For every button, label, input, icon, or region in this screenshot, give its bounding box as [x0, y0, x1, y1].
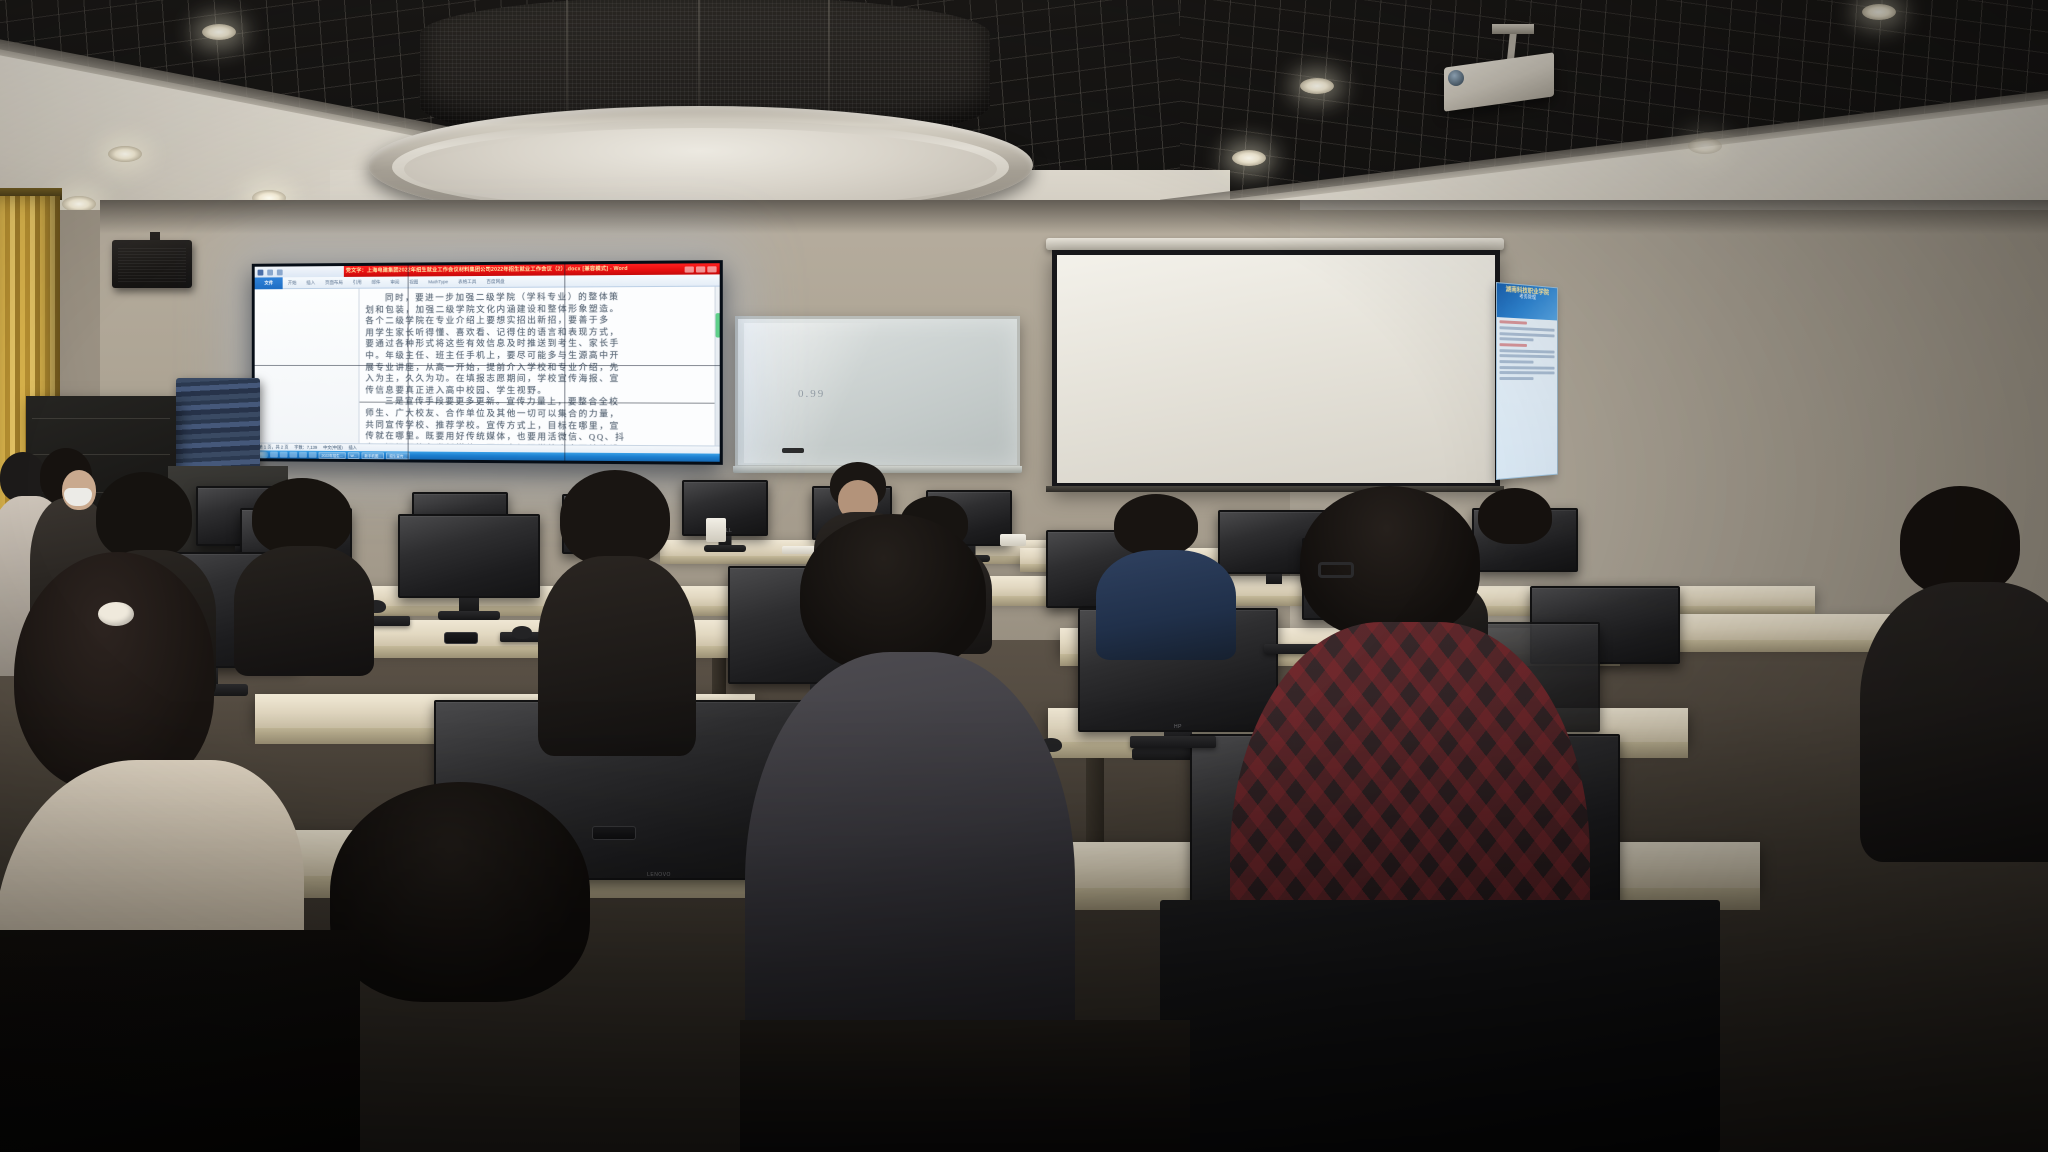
status-words: 字数：7,139 — [294, 444, 317, 450]
drum-face — [404, 128, 997, 210]
person-hair — [1900, 486, 2020, 596]
keyboard — [1130, 736, 1216, 748]
window-controls[interactable] — [685, 266, 720, 272]
browser-icon[interactable] — [270, 452, 278, 458]
monitor — [398, 514, 540, 598]
tab-page-layout[interactable]: 页面布局 — [320, 276, 348, 288]
desk-leg — [1086, 758, 1104, 848]
minimize-icon[interactable] — [685, 266, 694, 272]
ceiling-acoustic-drum — [368, 0, 1038, 230]
whiteboard-writing: 0.99 — [798, 387, 938, 447]
save-icon[interactable] — [258, 269, 264, 275]
smartphone — [444, 632, 478, 644]
hair-clip — [98, 602, 134, 626]
poster-row — [1500, 354, 1555, 358]
status-mode: 插入 — [349, 445, 357, 451]
status-language: 中文(中国) — [323, 444, 343, 450]
person-hair — [14, 552, 214, 792]
document-page[interactable]: 同时，要进一步加强二级学院（学科专业）的整体策 划和包装，加强二级学院文化内涵建… — [360, 287, 715, 446]
projection-screen[interactable] — [1052, 250, 1500, 488]
tab-review[interactable]: 审阅 — [385, 276, 404, 288]
document-line: 用学生家长听得懂、喜欢看、记得住的语言和表现方式， — [365, 326, 708, 338]
classroom-photo: 湖南科技职业学院 考务管理 0.99 — [0, 0, 2048, 1152]
ceiling-downlight — [1862, 4, 1896, 20]
mail-icon[interactable] — [299, 452, 307, 458]
projector-lens-icon — [1448, 70, 1464, 86]
person-hair — [560, 470, 670, 566]
poster-row — [1500, 320, 1527, 325]
ceiling-downlight — [1300, 78, 1334, 94]
poster-row — [1500, 377, 1534, 380]
videowall-content: 党文字：上海电建集团2022年招生就业工作会议材料集团公司2022年招生就业工作… — [255, 263, 720, 462]
tab-insert[interactable]: 插入 — [301, 277, 320, 289]
smartphone — [592, 826, 636, 840]
document-line: 入为主，久久为功。在填报志愿期间，学校宣传海报、宣 — [365, 373, 708, 385]
poster-row — [1500, 371, 1555, 374]
person-body — [1860, 582, 2048, 862]
taskbar-item-word-doc[interactable]: 2022年招生... — [319, 451, 346, 458]
person-body — [234, 546, 374, 676]
poster-body — [1497, 317, 1557, 385]
monitor-brand-logo: LENOVO — [647, 872, 671, 878]
taskbar-item-folder-photos[interactable]: 新手机图... — [361, 452, 384, 459]
restore-icon[interactable] — [696, 266, 705, 272]
poster-heading-line2: 考务管理 — [1519, 294, 1536, 301]
scrollbar-thumb[interactable] — [716, 313, 721, 337]
eyeglasses-icon — [1318, 562, 1354, 578]
wall-speaker — [112, 240, 192, 288]
person-hair — [1114, 494, 1198, 556]
person-hair — [330, 782, 590, 1002]
foreground-chair — [0, 930, 360, 1152]
app-icon[interactable] — [309, 452, 317, 458]
ceiling-downlight — [202, 24, 236, 40]
poster-row — [1500, 360, 1534, 364]
document-line: 师生、广大校友、合作单位及其他一切可以集合的力量， — [365, 408, 708, 421]
document-line: 要通过各种形式将这些有效信息及时推送到考生、家长手 — [365, 338, 708, 350]
videowall-seam — [255, 365, 720, 366]
taskbar-item-word[interactable]: W... — [348, 452, 360, 459]
media-icon[interactable] — [289, 452, 297, 458]
foreground-desk — [740, 1020, 1190, 1152]
videowall-seam — [408, 266, 409, 460]
projection-screen-weight-bar — [1046, 486, 1504, 492]
person-body — [1096, 550, 1236, 660]
projection-screen-case — [1046, 238, 1504, 250]
redo-icon[interactable] — [277, 269, 283, 275]
close-icon[interactable] — [707, 266, 716, 272]
whiteboard[interactable]: 0.99 — [735, 316, 1020, 468]
tab-table-tools[interactable]: 表格工具 — [453, 276, 481, 288]
ceiling-downlight — [1688, 138, 1722, 154]
whiteboard-marker-icon[interactable] — [782, 448, 804, 453]
ceiling-downlight — [1232, 150, 1266, 166]
mouse — [512, 626, 532, 639]
tab-mathtype[interactable]: MathType — [423, 276, 453, 288]
poster-row — [1500, 366, 1555, 370]
projector-ceiling-mount — [1492, 24, 1534, 34]
tab-mailings[interactable]: 邮件 — [367, 276, 386, 288]
poster-row — [1500, 343, 1527, 347]
wall-poster: 湖南科技职业学院 考务管理 — [1496, 282, 1558, 480]
poster-row — [1500, 332, 1555, 337]
person-hair — [1478, 488, 1552, 544]
foreground-monitor-back — [1160, 900, 1720, 1152]
poster-row — [1500, 337, 1534, 341]
tab-home[interactable]: 开始 — [283, 277, 302, 289]
word-document-area[interactable]: 同时，要进一步加强二级学院（学科专业）的整体策 划和包装，加强二级学院文化内涵建… — [255, 287, 720, 446]
document-line: 各个二级学院在专业介绍上要想实招出新招，要善于多 — [365, 314, 708, 327]
person-hair — [96, 472, 192, 560]
person-hair — [252, 478, 352, 556]
paper-stack — [1000, 534, 1026, 546]
poster-heading: 湖南科技职业学院 考务管理 — [1497, 283, 1557, 320]
poster-row — [1500, 326, 1555, 332]
ceiling-downlight — [108, 146, 142, 162]
tab-references[interactable]: 引用 — [348, 276, 367, 288]
document-line: 展专业讲座，从高一开始，提前介入学校和专业介绍，先 — [365, 362, 708, 374]
taskbar-item-folder-promo[interactable]: 招生宣传... — [386, 452, 409, 459]
undo-icon[interactable] — [267, 269, 273, 275]
tab-baidu-netdisk[interactable]: 百度网盘 — [481, 275, 509, 287]
monitor-brand-logo: HP — [1174, 724, 1182, 730]
person-hair — [800, 514, 986, 672]
poster-row — [1500, 349, 1555, 353]
tab-file[interactable]: 文件 — [255, 277, 283, 289]
led-video-wall[interactable]: 党文字：上海电建集团2022年招生就业工作会议材料集团公司2022年招生就业工作… — [252, 260, 723, 465]
document-line: 传信息要真正进入高中校园、学生视野。 — [365, 385, 708, 397]
status-page: 第 1 页，共 2 页 — [259, 444, 289, 450]
folded-denim-stack — [176, 378, 260, 474]
wall-shadow — [100, 200, 2048, 234]
videowall-seam — [564, 264, 565, 460]
pen-holder — [706, 518, 726, 542]
folder-icon[interactable] — [280, 452, 288, 458]
person-body — [538, 556, 696, 756]
document-line: 中。年级主任、班主任手机上，要尽可能多与生源高中开 — [365, 350, 708, 362]
